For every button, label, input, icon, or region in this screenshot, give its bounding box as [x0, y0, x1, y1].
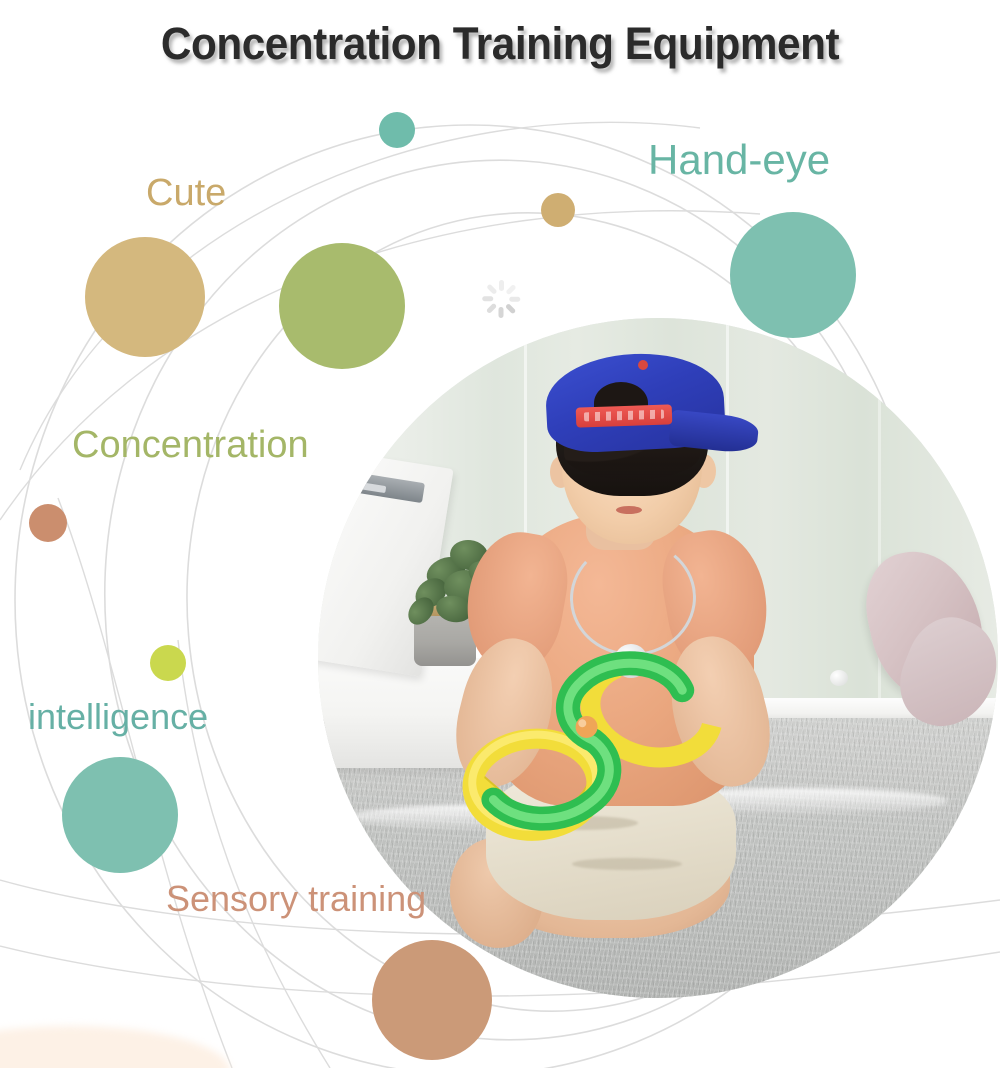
loading-spinner-icon [481, 279, 521, 319]
decorative-circle-teal-large-left [62, 757, 178, 873]
keyword-sensory-training: Sensory training [166, 878, 426, 920]
decorative-circle-tan-small-top [541, 193, 575, 227]
keyword-concentration: Concentration [72, 424, 309, 467]
poster-canvas: Concentration Training Equipment [0, 0, 1000, 1068]
keyword-intelligence: intelligence [28, 696, 208, 738]
cap-button [638, 360, 648, 370]
shorts-fold [572, 858, 682, 870]
keyword-hand-eye: Hand-eye [648, 136, 830, 184]
boy-mouth [616, 506, 642, 514]
decorative-circle-terracotta-small [29, 504, 67, 542]
decorative-circle-tan-large [85, 237, 205, 357]
decorative-circle-lime-small [150, 645, 186, 681]
decorative-circle-teal-small-top [379, 112, 415, 148]
balance-maze-toy [430, 641, 772, 854]
keyword-cute: Cute [146, 172, 226, 215]
white-ball [830, 670, 848, 686]
